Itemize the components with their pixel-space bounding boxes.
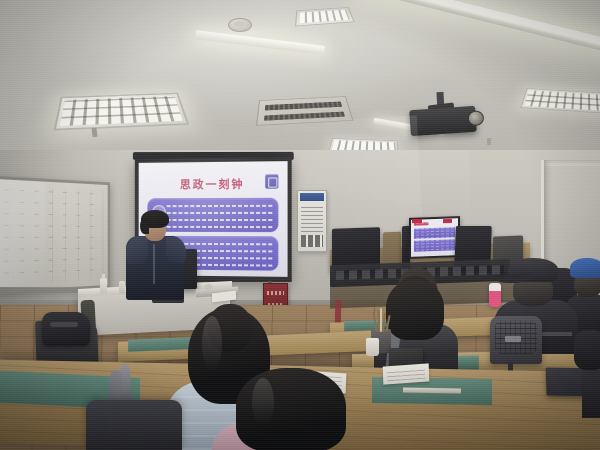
air-conditioner-cassette	[256, 96, 353, 126]
sprinkler-head-icon	[92, 128, 98, 137]
smoke-detector-icon	[228, 18, 252, 32]
ceiling-projector	[409, 106, 477, 137]
whiteboard-glare	[0, 178, 45, 291]
notebook-right	[383, 363, 430, 384]
notice-board-photos	[301, 235, 323, 247]
white-cup	[366, 338, 379, 356]
backpack-on-chair	[42, 312, 90, 346]
notice-board-header	[300, 193, 324, 201]
recessed-grille-light-left-icon	[54, 93, 190, 131]
display-accent-right	[443, 219, 452, 223]
water-bottle-podium	[100, 278, 107, 294]
notice-board-text	[301, 204, 323, 232]
student-back-row-2	[574, 330, 600, 370]
classroom-photo: 思政一刻钟	[0, 0, 600, 450]
student-foreground-right	[218, 368, 368, 450]
whiteboard	[0, 176, 110, 294]
chair-foreground[interactable]	[86, 400, 182, 450]
sprinkler-head-secondary-icon	[487, 138, 491, 145]
wall-notice-board	[297, 190, 327, 252]
institution-logo-icon	[265, 174, 278, 188]
chair-label	[505, 336, 521, 342]
ruler	[403, 387, 461, 393]
brush-5	[380, 308, 382, 332]
mouse[interactable]	[204, 284, 213, 290]
presenter	[124, 208, 186, 300]
pink-water-bottle	[489, 283, 501, 307]
display-accent-left	[412, 219, 422, 223]
